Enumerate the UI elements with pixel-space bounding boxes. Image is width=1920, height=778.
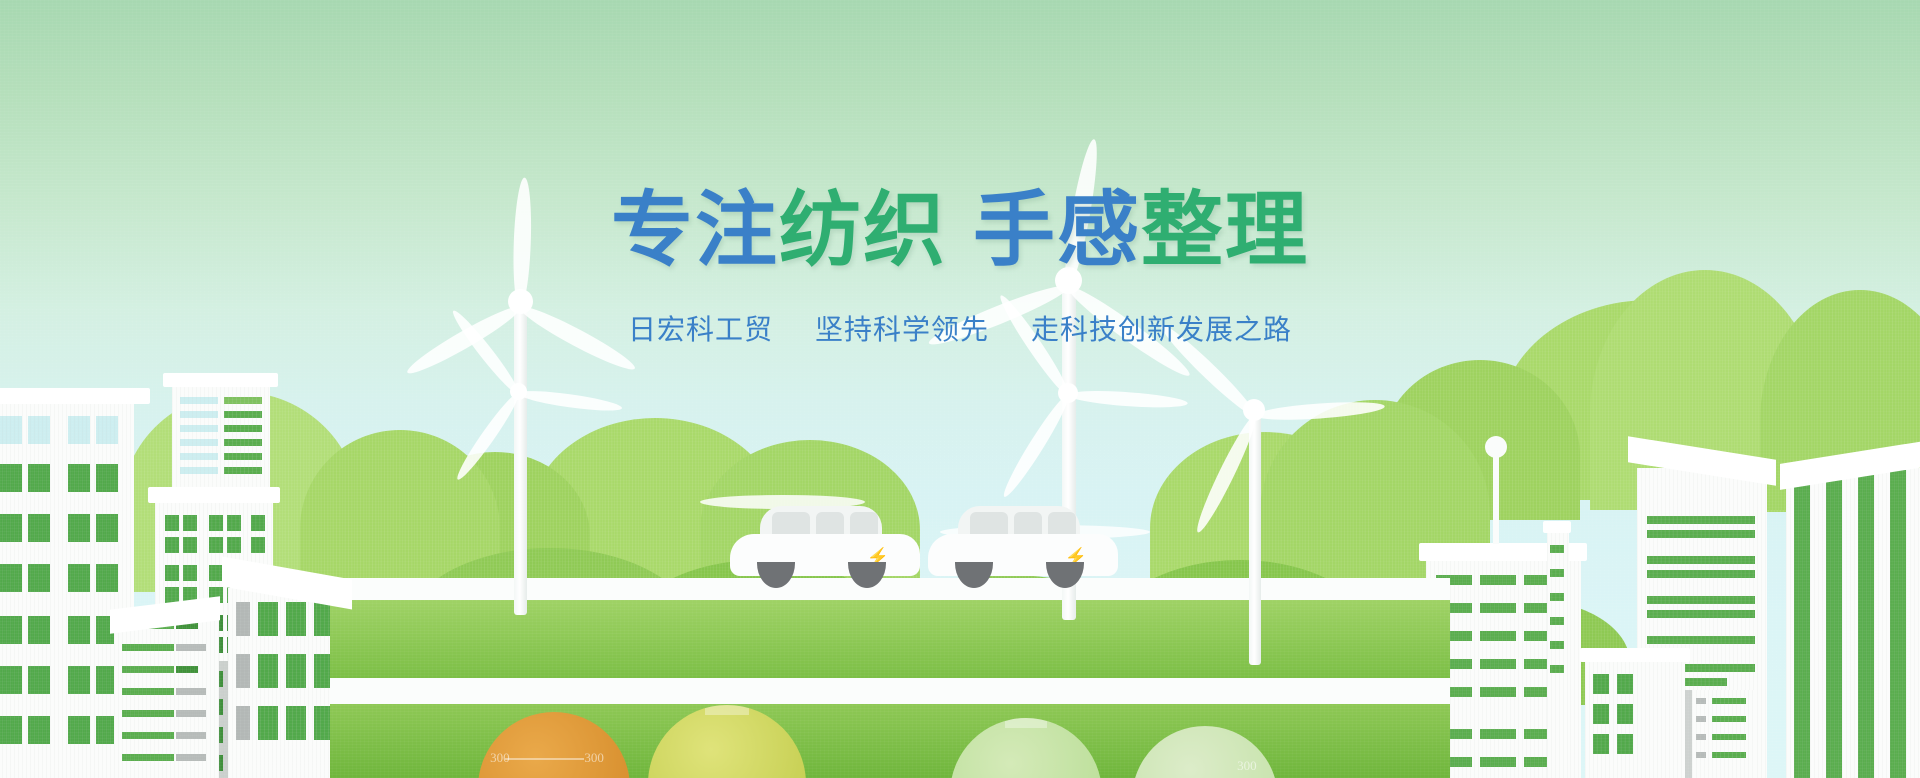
subtitle-part-1: 日宏科工贸: [628, 314, 773, 345]
car-wheel: [1046, 562, 1084, 588]
subtitle-part-2: 坚持科学领先: [815, 314, 989, 345]
electric-car-icon: ⚡: [730, 500, 920, 590]
car-wheel: [848, 562, 886, 588]
wind-turbine-icon: [1205, 355, 1395, 655]
page-title: 专注纺织手感整理: [0, 188, 1920, 274]
subtitle-part-3: 走科技创新发展之路: [1031, 314, 1292, 345]
car-wheel: [757, 562, 795, 588]
flask-label: 300: [686, 775, 706, 778]
hero-banner: 专注纺织手感整理 日宏科工贸坚持科学领先走科技创新发展之路: [0, 0, 1920, 778]
page-subtitle: 日宏科工贸坚持科学领先走科技创新发展之路: [0, 308, 1920, 348]
headline-segment-2: 纺织: [779, 185, 947, 276]
flask-label: 300: [584, 750, 604, 766]
headline-segment-3: 手感: [973, 185, 1141, 276]
road-band-lower: [330, 678, 1450, 704]
flask-label: 300: [1237, 758, 1257, 774]
car-wheel: [955, 562, 993, 588]
electric-car-icon: ⚡: [928, 500, 1118, 590]
flask-label: 300: [490, 750, 510, 766]
headline-segment-1: 专注: [611, 185, 779, 276]
headline-segment-4: 整理: [1141, 185, 1309, 276]
